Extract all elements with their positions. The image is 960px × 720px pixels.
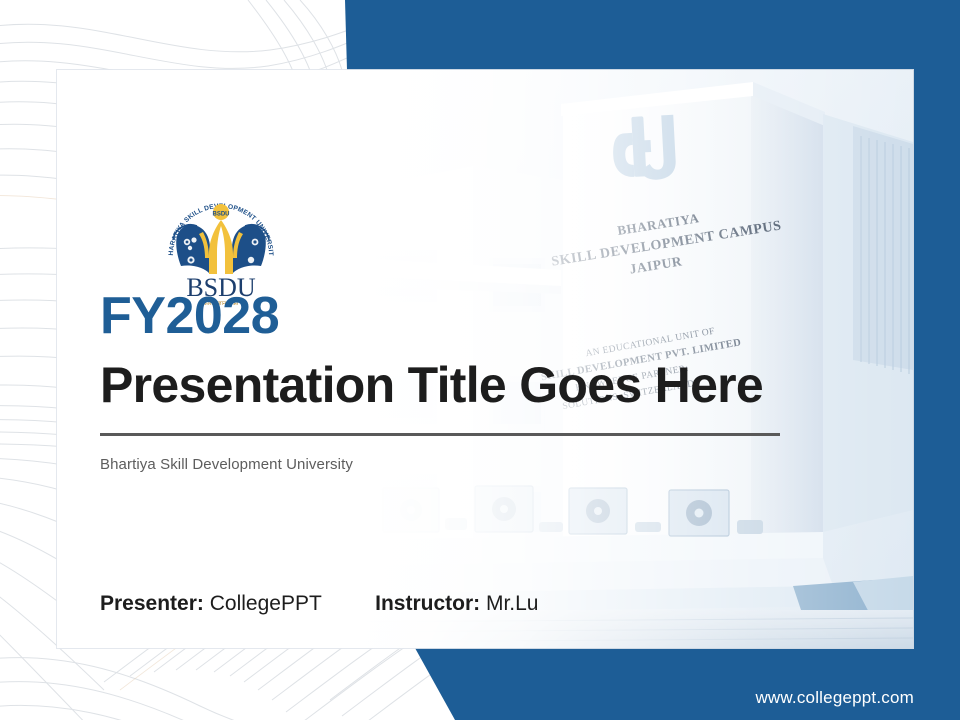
slide-canvas: BHARATIYA SKILL DEVELOPMENT CAMPUS JAIPU…: [0, 0, 960, 720]
slide-card: BHARATIYA SKILL DEVELOPMENT CAMPUS JAIPU…: [57, 70, 913, 648]
fiscal-year-label: FY2028: [100, 290, 800, 342]
subtitle: Bhartiya Skill Development University: [100, 456, 800, 473]
presenter-value: CollegePPT: [210, 592, 322, 615]
instructor-value: Mr.Lu: [486, 592, 539, 615]
svg-text:BSDU: BSDU: [212, 212, 229, 218]
title-divider: [100, 433, 780, 436]
footer-website-url[interactable]: www.collegeppt.com: [755, 688, 914, 708]
instructor-label: Instructor:: [375, 592, 480, 615]
page-title: Presentation Title Goes Here: [100, 360, 800, 411]
presenter-label: Presenter:: [100, 592, 204, 615]
credits-row: Presenter: CollegePPT Instructor: Mr.Lu: [100, 592, 538, 616]
title-block: FY2028 Presentation Title Goes Here Bhar…: [100, 290, 800, 473]
